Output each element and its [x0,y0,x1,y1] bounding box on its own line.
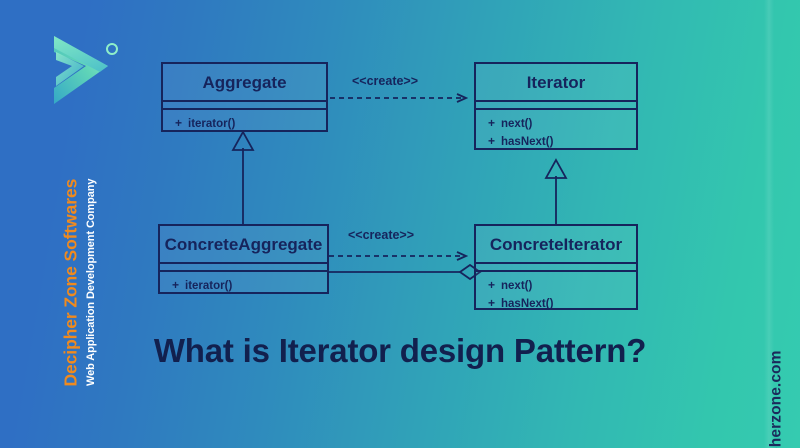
uml-class-concrete-aggregate[interactable]: ConcreteAggregate +iterator() [158,224,329,294]
visibility-public-icon: + [488,278,495,292]
uml-class-name-iterator: Iterator [476,64,636,100]
uml-class-concrete-iterator[interactable]: ConcreteIterator +next() +hasNext() [474,224,638,310]
uml-members-concrete-aggregate: +iterator() [160,272,327,301]
uml-class-name-aggregate: Aggregate [163,64,326,100]
uml-class-aggregate[interactable]: Aggregate +iterator() [161,62,328,132]
uml-class-iterator[interactable]: Iterator +next() +hasNext() [474,62,638,150]
uml-members-aggregate: +iterator() [163,110,326,139]
uml-member: +hasNext() [488,133,636,151]
uml-member: +iterator() [175,115,326,133]
uml-diagram: <<create>> <<create>> Aggregate +iterato… [0,0,800,448]
visibility-public-icon: + [488,116,495,130]
visibility-public-icon: + [172,278,179,292]
uml-member-label: hasNext() [501,298,553,310]
uml-member-label: next() [501,280,532,292]
uml-class-name-concrete-aggregate: ConcreteAggregate [160,226,327,262]
visibility-public-icon: + [175,116,182,130]
uml-member-label: iterator() [188,118,235,130]
slide-canvas: Decipher Zone Softwares Web Application … [0,0,800,448]
uml-class-name-concrete-iterator: ConcreteIterator [476,226,636,262]
stereotype-create-bottom: <<create>> [348,228,414,242]
uml-member: +hasNext() [488,295,636,313]
uml-member: +iterator() [172,277,327,295]
page-title: What is Iterator design Pattern? [0,332,800,370]
uml-member: +next() [488,115,636,133]
generalization-triangle-iterator-icon [546,160,566,178]
visibility-public-icon: + [488,296,495,310]
uml-member: +next() [488,277,636,295]
uml-connector-layer [0,0,800,448]
stereotype-create-top: <<create>> [352,74,418,88]
visibility-public-icon: + [488,134,495,148]
uml-members-concrete-iterator: +next() +hasNext() [476,272,636,318]
uml-member-label: iterator() [185,280,232,292]
uml-member-label: hasNext() [501,136,553,148]
uml-member-label: next() [501,118,532,130]
uml-members-iterator: +next() +hasNext() [476,110,636,156]
